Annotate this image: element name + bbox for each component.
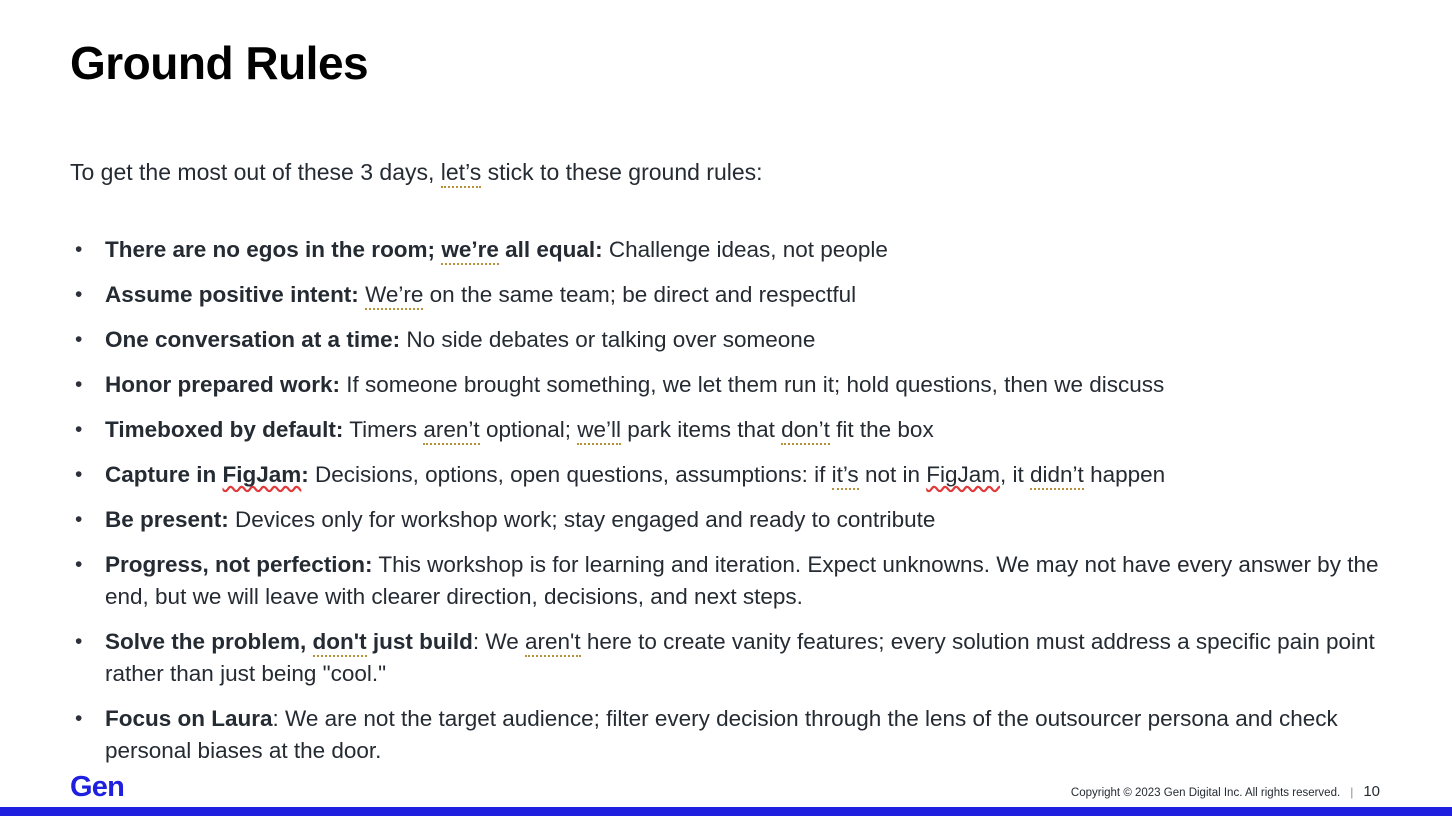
rule-lead-in: Progress, not perfection: [105, 552, 373, 577]
list-item: • Capture in FigJam: Decisions, options,… [70, 459, 1400, 491]
bullet-icon: • [70, 459, 105, 491]
rule-lead-in-end: all equal: [499, 237, 603, 262]
list-item: • Assume positive intent: We’re on the s… [70, 279, 1400, 311]
spellcheck-flagged-word: FigJam [223, 462, 302, 487]
page-title: Ground Rules [70, 38, 368, 89]
grammar-flagged-word: we’ll [577, 417, 621, 445]
list-item: • Be present: Devices only for workshop … [70, 504, 1400, 536]
copyright-text: Copyright © 2023 Gen Digital Inc. All ri… [1071, 787, 1340, 799]
slide: Ground Rules To get the most out of thes… [0, 0, 1452, 816]
footer-separator: | [1350, 785, 1353, 799]
rule-body-1: Decisions, options, open questions, assu… [309, 462, 832, 487]
rule-body-3: , it [1000, 462, 1030, 487]
grammar-flagged-word: it’s [832, 462, 859, 490]
rule-body: No side debates or talking over someone [400, 327, 815, 352]
footer-meta: Copyright © 2023 Gen Digital Inc. All ri… [1071, 783, 1380, 800]
rule-body-1: Timers [343, 417, 423, 442]
rule-body-b: on the same team; be direct and respectf… [423, 282, 856, 307]
grammar-flagged-word: We’re [365, 282, 423, 310]
bullet-icon: • [70, 324, 105, 356]
rule-body-4: happen [1084, 462, 1165, 487]
bullet-icon: • [70, 234, 105, 266]
bullet-icon: • [70, 279, 105, 311]
rule-lead-in: Be present: [105, 507, 229, 532]
list-item: • Focus on Laura: We are not the target … [70, 703, 1400, 767]
rule-lead-in: Capture in [105, 462, 223, 487]
list-item: • Timeboxed by default: Timers aren’t op… [70, 414, 1400, 446]
list-item-text: Progress, not perfection: This workshop … [105, 549, 1400, 613]
rule-lead-in: Timeboxed by default: [105, 417, 343, 442]
intro-text-after: stick to these ground rules: [481, 159, 762, 185]
bullet-icon: • [70, 703, 105, 735]
grammar-flagged-word: don't [313, 629, 367, 657]
list-item: • One conversation at a time: No side de… [70, 324, 1400, 356]
list-item-text: Be present: Devices only for workshop wo… [105, 504, 1400, 536]
intro-text-before: To get the most out of these 3 days, [70, 159, 441, 185]
bullet-icon: • [70, 369, 105, 401]
grammar-flagged-word: aren’t [423, 417, 479, 445]
grammar-flagged-word: we’re [441, 237, 499, 265]
list-item: • Solve the problem, don't just build: W… [70, 626, 1400, 690]
spellcheck-flagged-word: FigJam [926, 462, 1000, 487]
list-item-text: There are no egos in the room; we’re all… [105, 234, 1400, 266]
rule-body: We are not the target audience; filter e… [105, 706, 1338, 763]
grammar-flagged-word: let’s [441, 159, 482, 188]
bullet-icon: • [70, 414, 105, 446]
list-item-text: Solve the problem, don't just build: We … [105, 626, 1400, 690]
rule-body: If someone brought something, we let the… [340, 372, 1164, 397]
rule-body-3: park items that [621, 417, 781, 442]
grammar-flagged-word: don’t [781, 417, 830, 445]
rule-lead-in: Focus on Laura [105, 706, 273, 731]
rule-lead-in: There are no egos in the room; [105, 237, 441, 262]
bullet-icon: • [70, 549, 105, 581]
brand-accent-bar [0, 807, 1452, 816]
rule-lead-in-end: just build [367, 629, 473, 654]
rule-body: Challenge ideas, not people [603, 237, 888, 262]
list-item-text: Assume positive intent: We’re on the sam… [105, 279, 1400, 311]
list-item-text: One conversation at a time: No side deba… [105, 324, 1400, 356]
rule-lead-in: Solve the problem, [105, 629, 313, 654]
bullet-icon: • [70, 626, 105, 658]
rule-body-2: not in [859, 462, 927, 487]
page-number: 10 [1363, 783, 1380, 800]
list-item: • There are no egos in the room; we’re a… [70, 234, 1400, 266]
intro-paragraph: To get the most out of these 3 days, let… [70, 158, 763, 188]
rule-body-4: fit the box [830, 417, 934, 442]
grammar-flagged-word: aren't [525, 629, 581, 657]
list-item: • Progress, not perfection: This worksho… [70, 549, 1400, 613]
list-item-text: Capture in FigJam: Decisions, options, o… [105, 459, 1400, 491]
bullet-icon: • [70, 504, 105, 536]
rule-lead-in: Assume positive intent: [105, 282, 359, 307]
rule-body-2: optional; [480, 417, 578, 442]
rule-body-1: We [479, 629, 525, 654]
list-item-text: Timeboxed by default: Timers aren’t opti… [105, 414, 1400, 446]
list-item: • Honor prepared work: If someone brough… [70, 369, 1400, 401]
list-item-text: Focus on Laura: We are not the target au… [105, 703, 1400, 767]
rule-lead-in: Honor prepared work: [105, 372, 340, 397]
rule-lead-in-end: : [301, 462, 309, 487]
rule-lead-in: One conversation at a time: [105, 327, 400, 352]
gen-logo: Gen [70, 773, 124, 802]
ground-rules-list: • There are no egos in the room; we’re a… [70, 234, 1400, 780]
list-item-text: Honor prepared work: If someone brought … [105, 369, 1400, 401]
grammar-flagged-word: didn’t [1030, 462, 1084, 490]
rule-body: Devices only for workshop work; stay eng… [229, 507, 936, 532]
